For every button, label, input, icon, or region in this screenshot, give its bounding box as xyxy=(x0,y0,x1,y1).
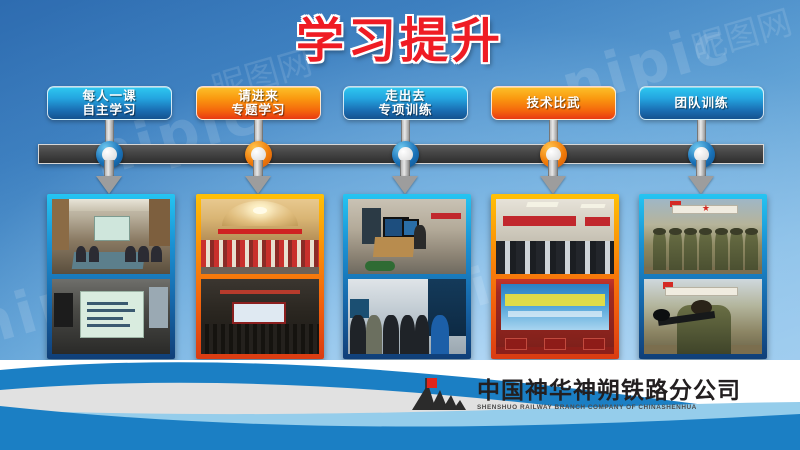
step-button-4[interactable]: 技术比武 xyxy=(491,86,616,120)
down-arrow-icon xyxy=(540,160,566,194)
down-arrow-icon xyxy=(96,160,122,194)
photo-5a[interactable]: ★ xyxy=(644,199,762,274)
photo-1b[interactable] xyxy=(52,279,170,354)
step-button-1[interactable]: 每人一课 自主学习 xyxy=(47,86,172,120)
photo-4b[interactable] xyxy=(496,279,614,354)
down-arrow-icon xyxy=(688,160,714,194)
step-button-3-line1: 走出去 xyxy=(378,89,432,103)
photo-5b[interactable] xyxy=(644,279,762,354)
photo-2a[interactable] xyxy=(201,199,319,274)
step-button-1-line2: 自主学习 xyxy=(82,103,136,117)
photo-4a[interactable] xyxy=(496,199,614,274)
photo-frame-5[interactable]: ★ xyxy=(639,194,767,359)
step-button-5-line1: 团队训练 xyxy=(674,96,728,110)
step-button-1-line1: 每人一课 xyxy=(82,89,136,103)
step-button-5[interactable]: 团队训练 xyxy=(639,86,764,120)
slide-canvas: nipic nipic nipic nipic 昵图网 昵图网 昵图网 昵图网 … xyxy=(0,0,800,450)
step-button-2-line2: 专题学习 xyxy=(231,103,285,117)
photo-2b[interactable] xyxy=(201,279,319,354)
photo-frame-3[interactable] xyxy=(343,194,471,359)
logo-company-name-en: SHENSHUO RAILWAY BRANCH COMPANY OF CHINA… xyxy=(477,403,741,412)
mountain-logo-icon xyxy=(410,378,468,412)
photo-frame-2[interactable] xyxy=(196,194,324,359)
step-button-3-line2: 专项训练 xyxy=(378,103,432,117)
step-button-3[interactable]: 走出去 专项训练 xyxy=(343,86,468,120)
page-title: 学习提升 xyxy=(0,14,800,70)
photo-3a[interactable] xyxy=(348,199,466,274)
down-arrow-icon xyxy=(392,160,418,194)
photo-frame-1[interactable] xyxy=(47,194,175,359)
photo-frame-4[interactable] xyxy=(491,194,619,359)
down-arrow-icon xyxy=(245,160,271,194)
logo-company-name-cn: 中国神华神朔铁路分公司 xyxy=(477,378,741,403)
step-button-2[interactable]: 请进来 专题学习 xyxy=(196,86,321,120)
photo-1a[interactable] xyxy=(52,199,170,274)
company-logo: 中国神华神朔铁路分公司 SHENSHUO RAILWAY BRANCH COMP… xyxy=(410,378,741,412)
photo-3b[interactable] xyxy=(348,279,466,354)
step-button-4-line1: 技术比武 xyxy=(526,96,580,110)
step-button-2-line1: 请进来 xyxy=(231,89,285,103)
